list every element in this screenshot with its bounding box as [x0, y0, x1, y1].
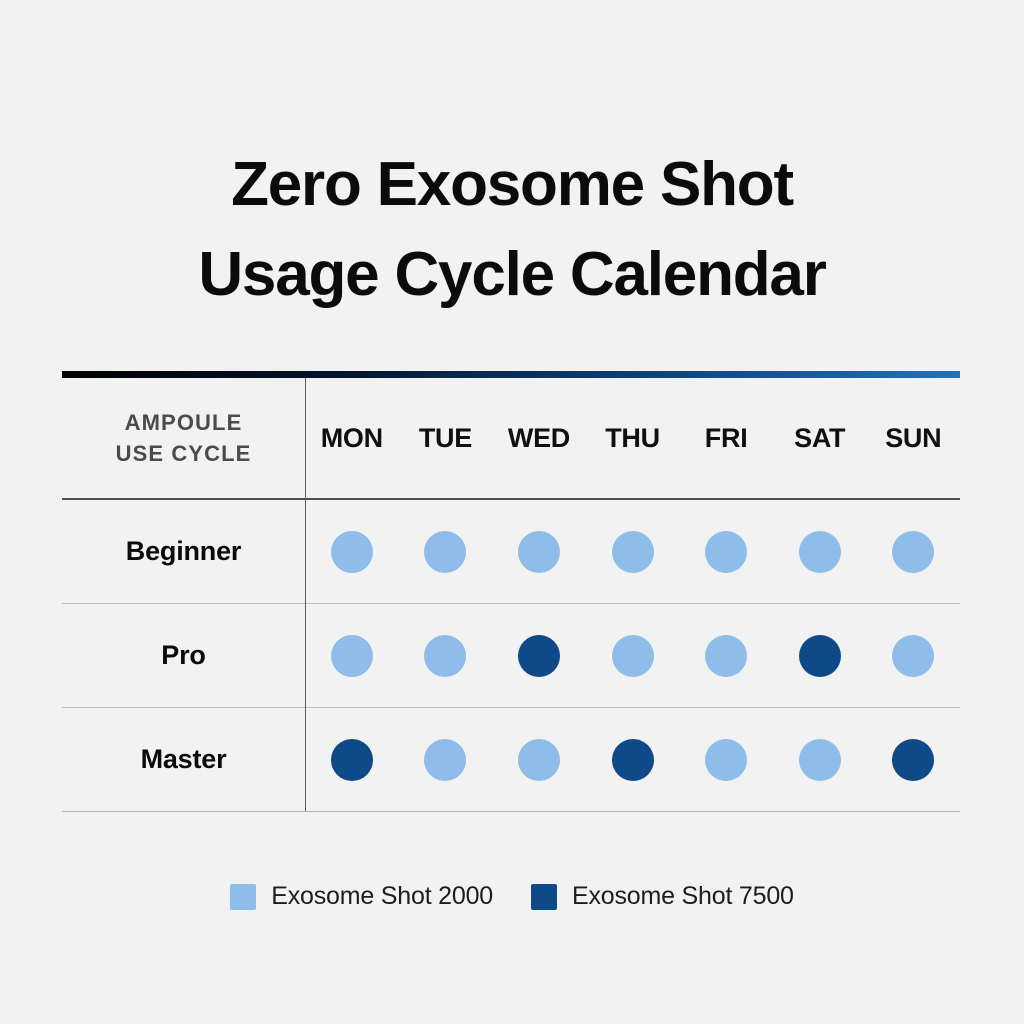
usage-dot — [331, 531, 373, 573]
day-cell-wed — [492, 635, 586, 677]
table-row: Beginner — [62, 500, 960, 604]
day-cell-mon — [305, 635, 399, 677]
weekday-header-tue: TUE — [399, 423, 493, 454]
legend-item-7500: Exosome Shot 7500 — [531, 882, 794, 911]
day-cell-mon — [305, 531, 399, 573]
weekday-label: THU — [605, 423, 660, 454]
usage-cycle-table: AMPOULE USE CYCLE MON TUE WED THU FRI SA… — [62, 371, 960, 812]
weekday-header-sun: SUN — [866, 423, 960, 454]
weekday-label: SAT — [794, 423, 845, 454]
usage-dot — [331, 635, 373, 677]
usage-dot — [705, 635, 747, 677]
legend: Exosome Shot 2000 Exosome Shot 7500 — [0, 882, 1024, 911]
legend-swatch-icon — [531, 884, 557, 910]
weekday-label: WED — [508, 423, 570, 454]
usage-dot — [799, 739, 841, 781]
usage-dot — [892, 635, 934, 677]
day-cell-sun — [866, 635, 960, 677]
usage-dot — [331, 739, 373, 781]
usage-dot — [518, 531, 560, 573]
usage-dot — [799, 635, 841, 677]
usage-dot — [518, 739, 560, 781]
corner-label-line-1: AMPOULE — [125, 407, 243, 438]
row-label-cell: Master — [62, 744, 305, 775]
day-cell-wed — [492, 531, 586, 573]
legend-item-2000: Exosome Shot 2000 — [230, 882, 493, 911]
usage-dot — [612, 739, 654, 781]
usage-dot — [705, 739, 747, 781]
weekday-header-sat: SAT — [773, 423, 867, 454]
usage-dot — [799, 531, 841, 573]
weekday-header-fri: FRI — [679, 423, 773, 454]
day-cell-thu — [586, 739, 680, 781]
usage-dot — [518, 635, 560, 677]
usage-dot — [424, 635, 466, 677]
row-dots — [305, 531, 960, 573]
title-line-2: Usage Cycle Calendar — [0, 230, 1024, 320]
day-cell-tue — [399, 635, 493, 677]
table-corner-label: AMPOULE USE CYCLE — [62, 407, 305, 469]
day-cell-tue — [399, 531, 493, 573]
page-title: Zero Exosome Shot Usage Cycle Calendar — [0, 140, 1024, 320]
weekday-header-cells: MON TUE WED THU FRI SAT SUN — [305, 423, 960, 454]
weekday-label: MON — [321, 423, 383, 454]
usage-dot — [424, 739, 466, 781]
usage-dot — [424, 531, 466, 573]
usage-dot — [612, 531, 654, 573]
table-vertical-divider — [305, 378, 306, 811]
usage-dot — [612, 635, 654, 677]
legend-swatch-icon — [230, 884, 256, 910]
day-cell-sat — [773, 635, 867, 677]
day-cell-fri — [679, 531, 773, 573]
table-header-row: AMPOULE USE CYCLE MON TUE WED THU FRI SA… — [62, 378, 960, 500]
day-cell-tue — [399, 739, 493, 781]
weekday-header-wed: WED — [492, 423, 586, 454]
title-line-1: Zero Exosome Shot — [0, 140, 1024, 230]
row-dots — [305, 635, 960, 677]
weekday-header-mon: MON — [305, 423, 399, 454]
day-cell-sun — [866, 531, 960, 573]
day-cell-wed — [492, 739, 586, 781]
legend-label: Exosome Shot 2000 — [271, 882, 493, 911]
row-dots — [305, 739, 960, 781]
row-label: Master — [141, 744, 227, 775]
usage-dot — [892, 531, 934, 573]
table-row: Master — [62, 708, 960, 812]
day-cell-sat — [773, 739, 867, 781]
day-cell-sat — [773, 531, 867, 573]
row-label: Beginner — [126, 536, 241, 567]
weekday-header-thu: THU — [586, 423, 680, 454]
day-cell-thu — [586, 531, 680, 573]
corner-label-line-2: USE CYCLE — [116, 438, 252, 469]
calendar-infographic: Zero Exosome Shot Usage Cycle Calendar A… — [0, 0, 1024, 1024]
usage-dot — [892, 739, 934, 781]
weekday-label: TUE — [419, 423, 472, 454]
day-cell-thu — [586, 635, 680, 677]
day-cell-fri — [679, 739, 773, 781]
legend-label: Exosome Shot 7500 — [572, 882, 794, 911]
day-cell-sun — [866, 739, 960, 781]
table-top-gradient-bar — [62, 371, 960, 378]
row-label-cell: Beginner — [62, 536, 305, 567]
row-label-cell: Pro — [62, 640, 305, 671]
weekday-label: SUN — [885, 423, 941, 454]
usage-dot — [705, 531, 747, 573]
weekday-label: FRI — [705, 423, 748, 454]
table-row: Pro — [62, 604, 960, 708]
row-label: Pro — [161, 640, 205, 671]
day-cell-mon — [305, 739, 399, 781]
day-cell-fri — [679, 635, 773, 677]
